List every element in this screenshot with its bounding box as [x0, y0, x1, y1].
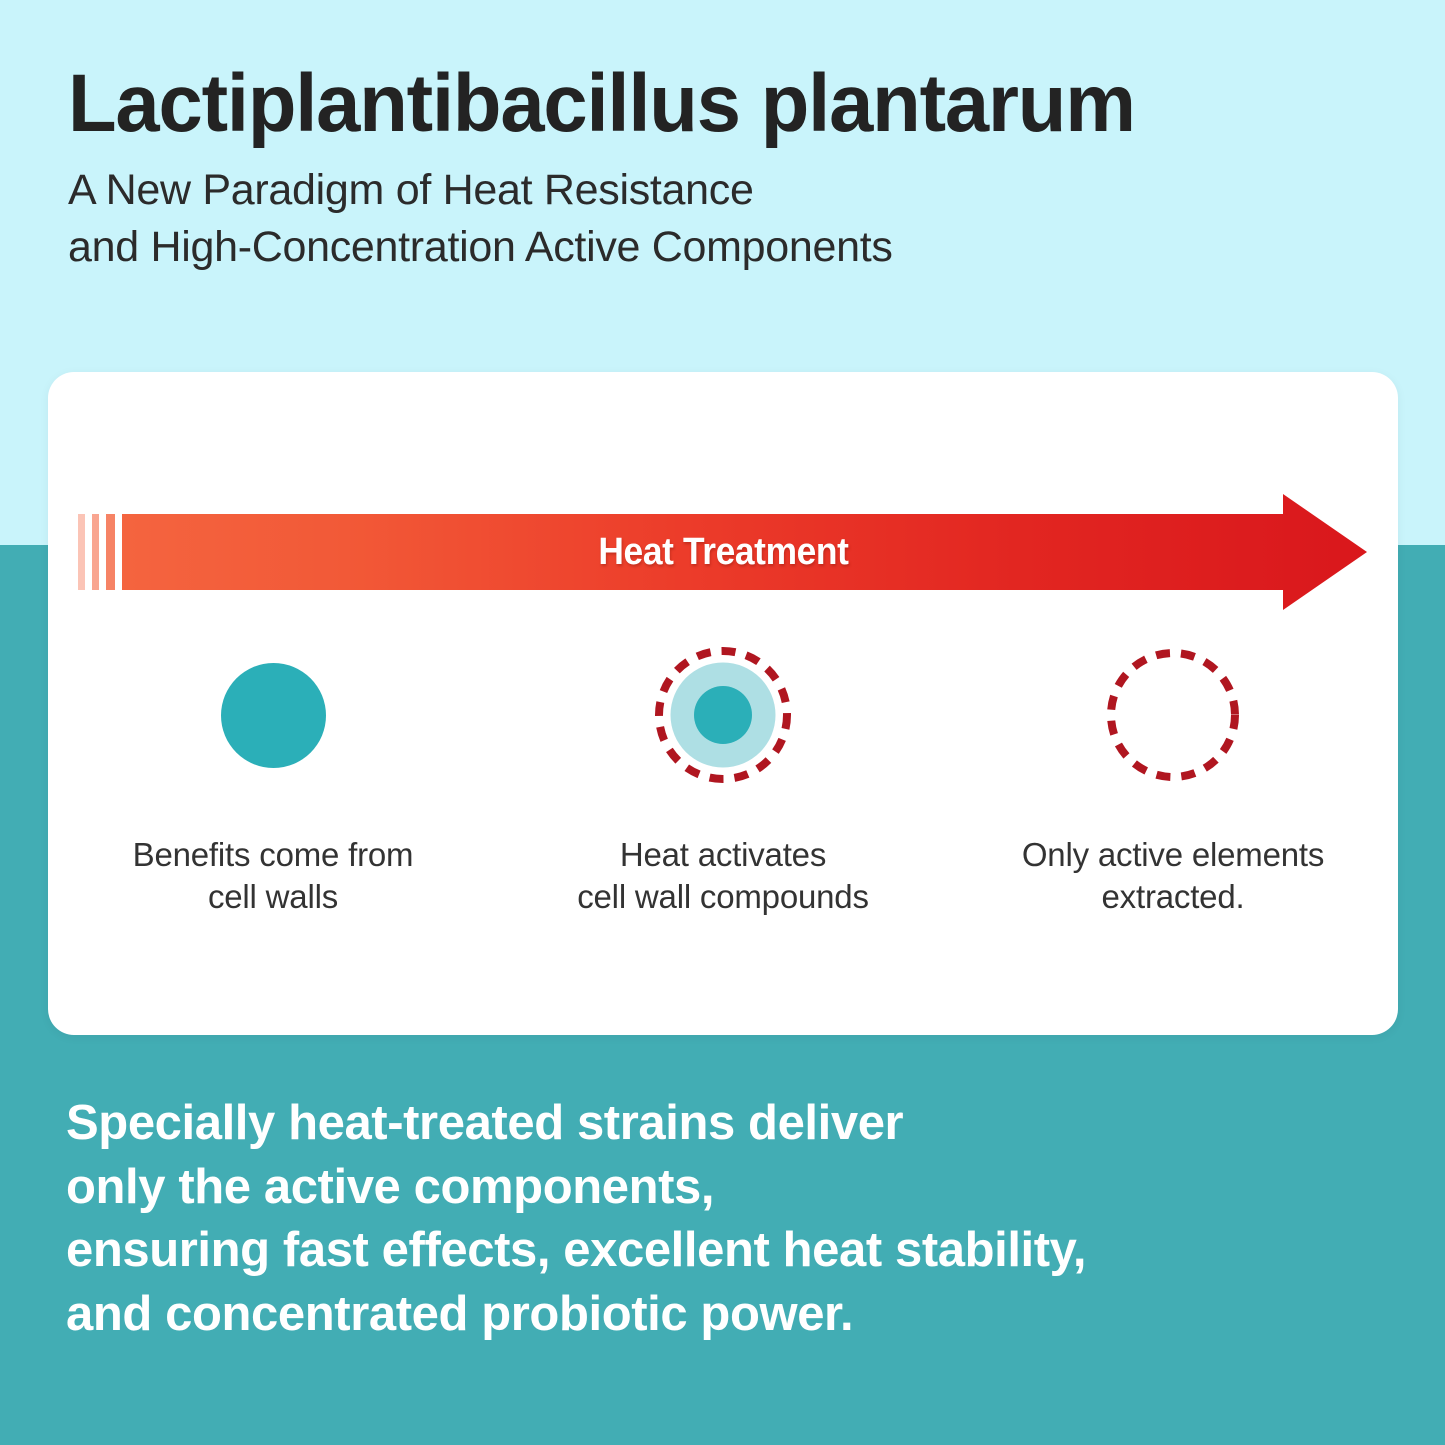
statement-line-4: and concentrated probiotic power.	[66, 1283, 1386, 1347]
stage-3-caption-line-1: Only active elements	[1022, 834, 1324, 876]
statement-line-3: ensuring fast effects, excellent heat st…	[66, 1219, 1386, 1283]
stage-2-figure	[648, 640, 798, 790]
infographic-poster: Lactiplantibacillus plantarum A New Para…	[0, 0, 1445, 1445]
process-card: Heat Treatment Benefits come from cell w…	[48, 372, 1398, 1035]
statement-line-1: Specially heat-treated strains deliver	[66, 1092, 1386, 1156]
stage-1-caption: Benefits come from cell walls	[133, 834, 414, 917]
empty-dashed-ring-icon	[1103, 645, 1243, 785]
stage-item-3: Only active elements extracted.	[948, 640, 1398, 917]
solid-teal-circle-icon	[221, 663, 326, 768]
stage-2-caption-line-1: Heat activates	[577, 834, 869, 876]
dashed-ring-icon	[653, 645, 793, 785]
stage-list: Benefits come from cell walls Heat activ…	[48, 640, 1398, 917]
stage-item-2: Heat activates cell wall compounds	[498, 640, 948, 917]
right-arrow-icon	[78, 492, 1368, 612]
subtitle-line-1: A New Paradigm of Heat Resistance	[68, 162, 1398, 219]
page-subtitle: A New Paradigm of Heat Resistance and Hi…	[68, 162, 1398, 276]
page-title: Lactiplantibacillus plantarum	[68, 62, 1358, 146]
stage-2-caption: Heat activates cell wall compounds	[577, 834, 869, 917]
statement-line-2: only the active components,	[66, 1156, 1386, 1220]
header: Lactiplantibacillus plantarum A New Para…	[68, 62, 1398, 276]
stage-item-1: Benefits come from cell walls	[48, 640, 498, 917]
stage-3-figure	[1098, 640, 1248, 790]
stage-1-caption-line-2: cell walls	[133, 876, 414, 918]
stage-2-caption-line-2: cell wall compounds	[577, 876, 869, 918]
heat-treatment-arrow: Heat Treatment	[78, 492, 1368, 612]
stage-3-caption: Only active elements extracted.	[1022, 834, 1324, 917]
stage-1-figure	[198, 640, 348, 790]
stage-1-caption-line-1: Benefits come from	[133, 834, 414, 876]
stage-3-caption-line-2: extracted.	[1022, 876, 1324, 918]
subtitle-line-2: and High-Concentration Active Components	[68, 219, 1398, 276]
summary-statement: Specially heat-treated strains deliver o…	[66, 1092, 1386, 1347]
